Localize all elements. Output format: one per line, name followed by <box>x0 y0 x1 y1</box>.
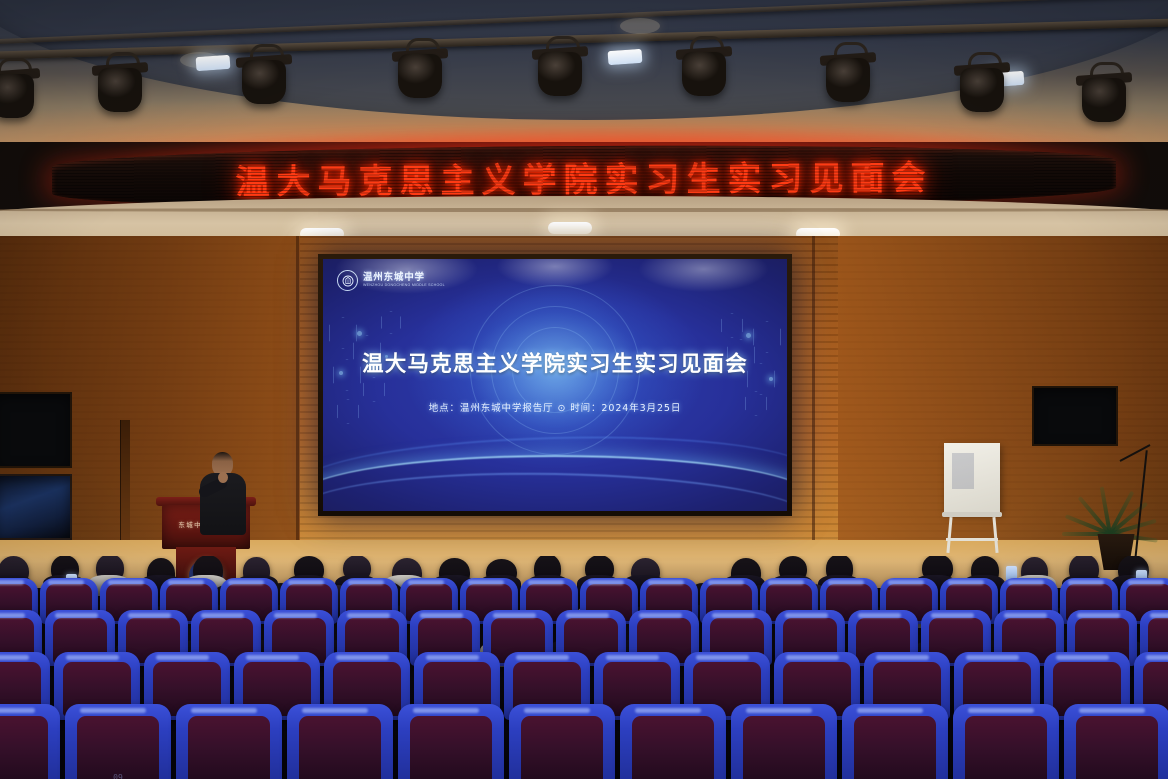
seat-highlight <box>274 613 317 618</box>
seat-highlight <box>858 613 901 618</box>
auditorium-seat <box>287 704 393 779</box>
seat-highlight <box>968 708 1034 713</box>
seat-highlight <box>1068 580 1104 585</box>
projection-screen: 温州东城中学 WENZHOU DONGCHENG MIDDLE SCHOOL 温… <box>323 259 787 511</box>
wall-recess-slot <box>120 420 130 550</box>
seat-highlight <box>857 708 923 713</box>
auditorium-photo: 温大马克思主义学院实习生实习见面会 <box>0 0 1168 779</box>
whiteboard <box>944 443 1000 553</box>
wall-seam <box>296 236 299 546</box>
seat-highlight <box>413 708 479 713</box>
seat-highlight <box>426 655 479 660</box>
seat-highlight <box>516 655 569 660</box>
seat-highlight <box>524 708 590 713</box>
seat-highlight <box>288 580 324 585</box>
seat-highlight <box>696 655 749 660</box>
seat-highlight <box>191 708 257 713</box>
seat-highlight <box>168 580 204 585</box>
seat-highlight <box>786 655 839 660</box>
seat-highlight <box>785 613 828 618</box>
seat-highlight <box>1004 613 1047 618</box>
seat-highlight <box>1056 655 1109 660</box>
seat-highlight <box>768 580 804 585</box>
seat-highlight <box>55 613 98 618</box>
stage-spotlight <box>678 36 730 102</box>
stage-spotlight <box>956 52 1008 118</box>
seat-highlight <box>588 580 624 585</box>
seat-highlight <box>712 613 755 618</box>
seat-highlight <box>606 655 659 660</box>
seat-highlight <box>156 655 209 660</box>
seat-highlight <box>66 655 119 660</box>
auditorium-seat <box>842 704 948 779</box>
seat-highlight <box>828 580 864 585</box>
stage-spotlight <box>822 42 874 108</box>
seat-highlight <box>108 580 144 585</box>
school-logo: 温州东城中学 WENZHOU DONGCHENG MIDDLE SCHOOL <box>337 270 445 291</box>
seat-highlight <box>708 580 744 585</box>
seat-highlight <box>347 613 390 618</box>
seat-highlight <box>468 580 504 585</box>
auditorium-seat <box>731 704 837 779</box>
seat-highlight <box>1008 580 1044 585</box>
wall-seam <box>812 236 815 546</box>
wall-display-panel <box>0 392 72 468</box>
seat-highlight <box>648 580 684 585</box>
screen-title: 温大马克思主义学院实习生实习见面会 <box>323 347 787 378</box>
seat-highlight <box>0 655 29 660</box>
seat-highlight <box>1150 613 1168 618</box>
auditorium-seat <box>398 704 504 779</box>
audience-seating: 09 <box>0 556 1168 779</box>
auditorium-seat: 09 <box>65 704 171 779</box>
seat-highlight <box>336 655 389 660</box>
auditorium-seat <box>620 704 726 779</box>
seat-highlight <box>528 580 564 585</box>
seat-highlight <box>493 613 536 618</box>
seat-highlight <box>876 655 929 660</box>
stage-spotlight <box>0 58 38 124</box>
auditorium-seat <box>953 704 1059 779</box>
seat-highlight <box>1128 580 1164 585</box>
stage-spotlight <box>94 52 146 118</box>
seat-highlight <box>948 580 984 585</box>
auditorium-seat <box>0 704 60 779</box>
seat-highlight <box>128 613 171 618</box>
stage-spotlight <box>534 36 586 102</box>
seat-highlight <box>48 580 84 585</box>
seat-highlight <box>1079 708 1145 713</box>
seat-highlight <box>746 708 812 713</box>
stage-spotlight <box>394 38 446 104</box>
whiteboard-leg <box>946 517 952 553</box>
seat-highlight <box>0 580 24 585</box>
whiteboard-leg <box>992 517 998 553</box>
seat-highlight <box>966 655 1019 660</box>
seat-highlight <box>408 580 444 585</box>
seat-highlight <box>0 613 25 618</box>
seat-highlight <box>1146 655 1168 660</box>
auditorium-seat <box>1064 704 1168 779</box>
seat-highlight <box>228 580 264 585</box>
auditorium-seat <box>509 704 615 779</box>
school-crest-icon <box>337 270 358 291</box>
seat-highlight <box>0 708 35 713</box>
ceiling-vent <box>620 18 660 34</box>
soffit-downlight <box>548 222 592 234</box>
wall-display-panel <box>0 474 72 540</box>
screen-wave <box>323 455 787 511</box>
wall-display-panel <box>1032 386 1118 446</box>
seat-highlight <box>420 613 463 618</box>
seat-highlight <box>566 613 609 618</box>
ceiling-downlight <box>608 49 643 65</box>
seat-highlight <box>348 580 384 585</box>
potted-palm <box>1068 440 1164 570</box>
seat-highlight <box>80 708 146 713</box>
projection-screen-frame: 温州东城中学 WENZHOU DONGCHENG MIDDLE SCHOOL 温… <box>318 254 792 516</box>
seat-highlight <box>635 708 701 713</box>
seat-highlight <box>1077 613 1120 618</box>
school-logo-cn: 温州东城中学 <box>363 273 445 283</box>
ceiling-downlight <box>196 55 231 71</box>
speaker-person <box>196 452 254 542</box>
soffit-edge <box>0 208 1168 212</box>
seat-highlight <box>302 708 368 713</box>
auditorium-seat <box>176 704 282 779</box>
seat-highlight <box>931 613 974 618</box>
school-logo-en: WENZHOU DONGCHENG MIDDLE SCHOOL <box>363 284 445 288</box>
whiteboard-crossbar <box>946 538 998 541</box>
screen-subtitle: 地点：温州东城中学报告厅 ⊙ 时间：2024年3月25日 <box>323 400 787 414</box>
stage-spotlight <box>238 44 290 110</box>
seat-highlight <box>639 613 682 618</box>
seat-highlight <box>888 580 924 585</box>
seat-highlight <box>246 655 299 660</box>
speaker-hand <box>218 472 228 483</box>
seat-highlight <box>201 613 244 618</box>
seat-number: 09 <box>65 773 171 779</box>
whiteboard-surface <box>944 443 1000 513</box>
